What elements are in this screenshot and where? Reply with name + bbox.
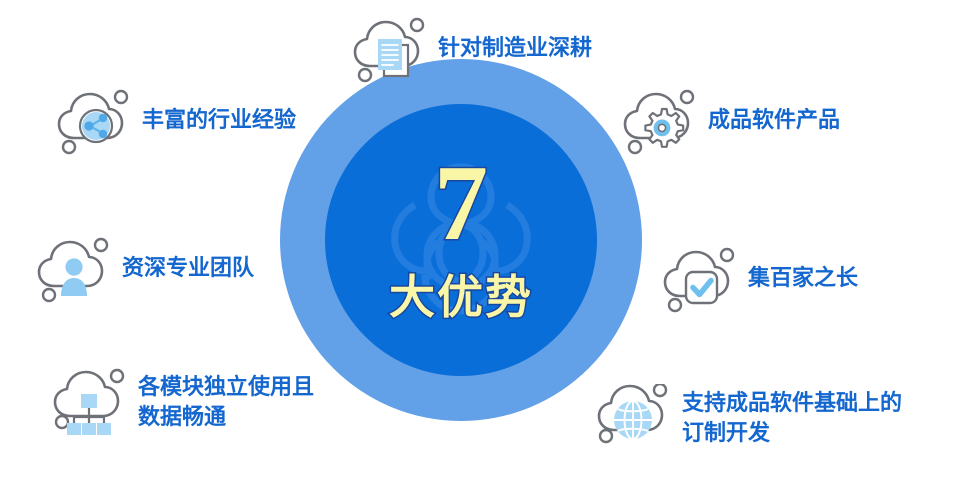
feature-label-manufacturing: 针对制造业深耕 <box>438 34 592 64</box>
feature-item-products[interactable]: 成品软件产品 <box>618 86 840 156</box>
cloud-checkbox-icon <box>658 244 740 314</box>
advantage-label: 大优势 <box>389 261 533 327</box>
cloud-sitemap-icon <box>48 368 130 438</box>
feature-item-customization[interactable]: 支持成品软件基础上的 订制开发 <box>592 384 902 454</box>
feature-item-manufacturing[interactable]: 针对制造业深耕 <box>348 14 592 84</box>
cloud-share-network-icon <box>52 86 134 156</box>
feature-label-customization: 支持成品软件基础上的 订制开发 <box>682 389 902 448</box>
feature-label-best-practices: 集百家之长 <box>748 264 858 294</box>
feature-label-modules: 各模块独立使用且 数据畅通 <box>138 373 314 432</box>
cloud-document-icon <box>348 14 430 84</box>
feature-item-best-practices[interactable]: 集百家之长 <box>658 244 858 314</box>
advantage-count: 7 <box>434 153 488 256</box>
feature-label-products: 成品软件产品 <box>708 106 840 136</box>
feature-item-team[interactable]: 资深专业团队 <box>32 234 254 304</box>
cloud-gear-icon <box>618 86 700 156</box>
feature-item-experience[interactable]: 丰富的行业经验 <box>52 86 296 156</box>
center-text-block: 7 大优势 <box>280 59 642 421</box>
cloud-globe-icon <box>592 384 674 454</box>
feature-item-modules[interactable]: 各模块独立使用且 数据畅通 <box>48 368 314 438</box>
infographic-canvas: 7 大优势 针对制造业深耕 <box>0 0 960 500</box>
feature-label-team: 资深专业团队 <box>122 254 254 284</box>
feature-label-experience: 丰富的行业经验 <box>142 106 296 136</box>
cloud-user-icon <box>32 234 114 304</box>
center-emblem: 7 大优势 <box>280 59 642 421</box>
